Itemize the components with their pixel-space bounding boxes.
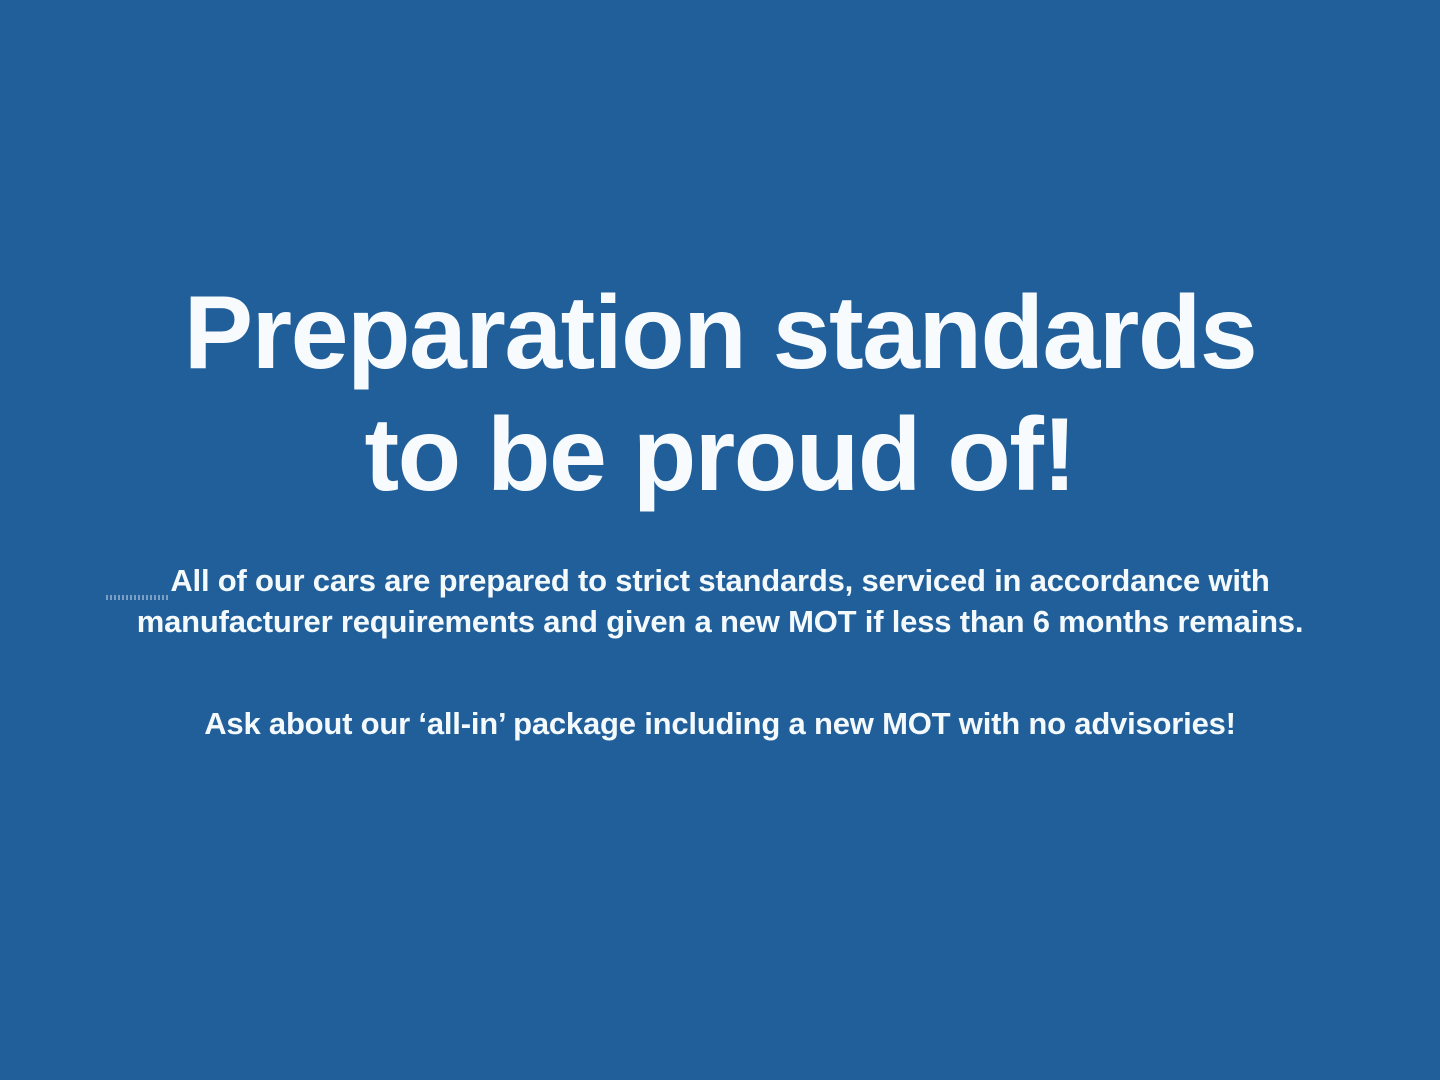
- description-paragraph: All of our cars are prepared to strict s…: [80, 560, 1360, 642]
- headline-line-1: Preparation standards: [0, 272, 1440, 394]
- page-title: Preparation standards to be proud of!: [0, 272, 1440, 516]
- promo-slide: Preparation standards to be proud of! Al…: [0, 0, 1440, 1080]
- headline-line-2: to be proud of!: [0, 394, 1440, 516]
- body-copy-block: All of our cars are prepared to strict s…: [80, 560, 1360, 642]
- closing-call-to-action: Ask about our ‘all-in’ package including…: [80, 703, 1360, 744]
